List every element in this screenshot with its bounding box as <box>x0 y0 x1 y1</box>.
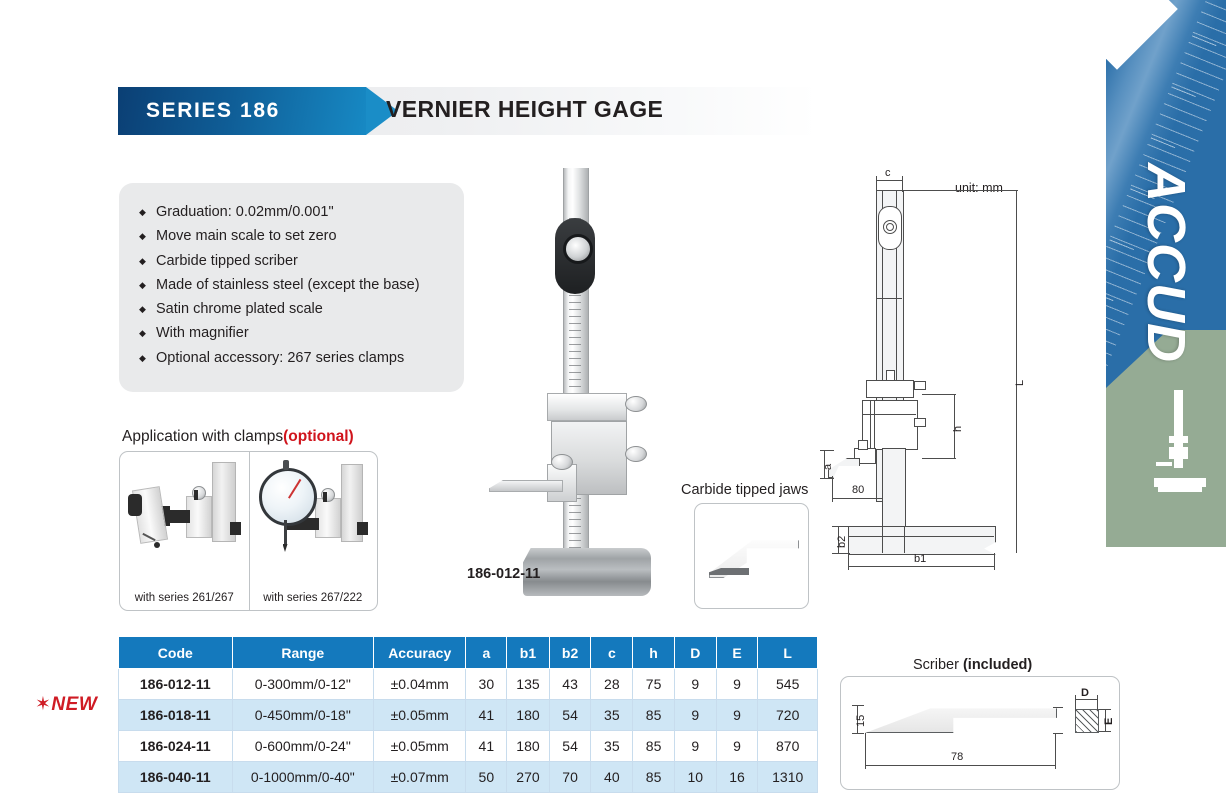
col-D: D <box>674 637 716 669</box>
feature-item: Made of stainless steel (except the base… <box>139 273 464 297</box>
application-panel-1: with series 261/267 <box>120 452 250 610</box>
product-photo <box>489 168 659 608</box>
application-images: with series 261/267 with series 267/222 <box>119 451 378 611</box>
cell-b2: 70 <box>549 762 591 793</box>
feature-item: With magnifier <box>139 321 464 345</box>
cell-a: 30 <box>466 669 507 700</box>
cell-D: 9 <box>674 731 716 762</box>
upper-carriage <box>547 393 627 421</box>
scriber-title: Scriber (included) <box>913 657 1032 673</box>
base-detail <box>848 536 994 537</box>
dim-E-ext <box>1099 731 1111 732</box>
cell-b1: 180 <box>507 731 549 762</box>
application-caption: with series 261/267 <box>120 592 249 604</box>
col-a: a <box>466 637 507 669</box>
cell-b2: 43 <box>549 669 591 700</box>
dim-label-15: 15 <box>855 715 867 727</box>
cell-E: 16 <box>716 762 758 793</box>
cell-L: 1310 <box>758 762 818 793</box>
feature-item: Move main scale to set zero <box>139 224 464 248</box>
dial-indicator-icon <box>259 468 317 526</box>
carbide-jaws-title: Carbide tipped jaws <box>681 482 808 498</box>
application-title: Application with clamps(optional) <box>122 428 354 446</box>
cell-accuracy: ±0.07mm <box>374 762 466 793</box>
application-title-main: Application with clamps <box>122 428 283 445</box>
cell-D: 9 <box>674 669 716 700</box>
dim-label-b1: b1 <box>914 553 926 565</box>
cell-c: 28 <box>591 669 633 700</box>
base-detail <box>904 526 905 553</box>
feature-item: Optional accessory: 267 series clamps <box>139 346 464 370</box>
carriage-detail <box>862 414 916 415</box>
page-title: VERNIER HEIGHT GAGE <box>386 96 663 123</box>
product-base <box>523 548 651 596</box>
cell-c: 35 <box>591 731 633 762</box>
dim-b2-ext <box>832 526 850 527</box>
cell-E: 9 <box>716 731 758 762</box>
cell-range: 0-1000mm/0-40" <box>232 762 373 793</box>
scriber-blade <box>489 480 563 492</box>
table-row: 186-024-11 0-600mm/0-24" ±0.05mm 41 180 … <box>119 731 818 762</box>
brand-sidebar: ACCUD <box>1106 0 1226 547</box>
scriber-profile <box>865 705 1057 733</box>
clamp-photo-267-222 <box>249 460 378 572</box>
section-leader <box>1053 707 1063 708</box>
dim-h-ext <box>922 458 956 459</box>
cell-D: 10 <box>674 762 716 793</box>
drawing-knob <box>914 381 926 390</box>
drawing-knob <box>914 418 926 427</box>
dim-label-h: h <box>952 426 964 432</box>
magnifier-lens-icon <box>563 234 593 264</box>
dim-b1-ext <box>848 553 849 570</box>
cell-code: 186-018-11 <box>119 700 233 731</box>
cell-b1: 180 <box>507 700 549 731</box>
application-panel-2: with series 267/222 <box>249 452 378 610</box>
cell-range: 0-300mm/0-12" <box>232 669 373 700</box>
cell-b2: 54 <box>549 731 591 762</box>
features-panel: Graduation: 0.02mm/0.001" Move main scal… <box>119 183 464 392</box>
scriber-title-main: Scriber <box>913 657 963 673</box>
cell-a: 41 <box>466 700 507 731</box>
cell-h: 85 <box>633 762 675 793</box>
cell-range: 0-600mm/0-24" <box>232 731 373 762</box>
product-code-label: 186-012-11 <box>467 566 540 582</box>
dim-label-b2: b2 <box>836 536 848 548</box>
dim-L-ext-top <box>902 190 1018 191</box>
new-badge: ✶NEW <box>35 693 97 716</box>
dim-label-E: E <box>1103 718 1115 725</box>
dim-D-line <box>1075 699 1097 700</box>
dim-D-ext <box>1075 695 1076 711</box>
col-c: c <box>591 637 633 669</box>
col-b2: b2 <box>549 637 591 669</box>
cell-code: 186-012-11 <box>119 669 233 700</box>
drawing-base <box>848 526 996 555</box>
dim-label-80: 80 <box>852 484 864 496</box>
features-list: Graduation: 0.02mm/0.001" Move main scal… <box>119 183 464 370</box>
dim-80-ext <box>832 476 833 502</box>
dim-label-D: D <box>1081 687 1089 699</box>
cell-b1: 135 <box>507 669 549 700</box>
dim-b1-line <box>848 566 994 567</box>
cell-range: 0-450mm/0-18" <box>232 700 373 731</box>
cell-L: 870 <box>758 731 818 762</box>
drawing-knob <box>886 370 895 381</box>
cell-code: 186-024-11 <box>119 731 233 762</box>
feature-item: Carbide tipped scriber <box>139 249 464 273</box>
dim-label-a: a <box>822 464 834 470</box>
cell-h: 75 <box>633 669 675 700</box>
scriber-cross-section <box>1075 709 1099 733</box>
table-row: 186-040-11 0-1000mm/0-40" ±0.07mm 50 270… <box>119 762 818 793</box>
dim-c-line <box>876 180 902 181</box>
drawing-upper-carriage <box>866 380 914 398</box>
dim-label-78: 78 <box>951 751 963 763</box>
scriber-clamp-knob <box>551 454 573 470</box>
technical-drawing: c L h a 80 b2 b1 <box>818 168 1098 598</box>
cell-b1: 270 <box>507 762 549 793</box>
dim-78-ext <box>865 733 866 769</box>
dim-78-line <box>865 765 1055 766</box>
cell-L: 720 <box>758 700 818 731</box>
scriber-title-included: (included) <box>963 657 1032 673</box>
dim-c-ext <box>876 176 877 192</box>
specifications-table: Code Range Accuracy a b1 b2 c h D E L 18… <box>118 636 818 793</box>
cell-accuracy: ±0.05mm <box>374 731 466 762</box>
cell-code: 186-040-11 <box>119 762 233 793</box>
dim-b1-ext <box>994 553 995 570</box>
carriage-detail <box>870 400 871 448</box>
series-tag: SERIES 186 <box>118 87 366 135</box>
section-leader <box>1053 733 1063 734</box>
col-range: Range <box>232 637 373 669</box>
base-detail <box>882 526 883 553</box>
dim-label-c: c <box>885 167 891 179</box>
col-code: Code <box>119 637 233 669</box>
carriage-detail <box>874 400 875 448</box>
cell-a: 50 <box>466 762 507 793</box>
clamp-screw-knob <box>625 446 647 462</box>
table-row: 186-012-11 0-300mm/0-12" ±0.04mm 30 135 … <box>119 669 818 700</box>
fine-adjust-knob <box>625 396 647 412</box>
drawing-scriber-knob <box>858 440 868 450</box>
col-h: h <box>633 637 675 669</box>
dim-label-L: L <box>1014 380 1026 386</box>
dim-78-ext <box>1055 733 1056 769</box>
cell-c: 40 <box>591 762 633 793</box>
table-header-row: Code Range Accuracy a b1 b2 c h D E L <box>119 637 818 669</box>
cell-accuracy: ±0.05mm <box>374 700 466 731</box>
cell-a: 41 <box>466 731 507 762</box>
col-accuracy: Accuracy <box>374 637 466 669</box>
dim-D-ext <box>1097 695 1098 711</box>
height-gage-silhouette-icon <box>1152 390 1208 510</box>
cell-h: 85 <box>633 731 675 762</box>
table-row: 186-018-11 0-450mm/0-18" ±0.05mm 41 180 … <box>119 700 818 731</box>
col-L: L <box>758 637 818 669</box>
cell-D: 9 <box>674 700 716 731</box>
cell-accuracy: ±0.04mm <box>374 669 466 700</box>
dim-L-line <box>1016 190 1017 553</box>
col-E: E <box>716 637 758 669</box>
application-caption: with series 267/222 <box>249 592 378 604</box>
cell-E: 9 <box>716 669 758 700</box>
drawing-magnifier-lens-icon <box>886 223 894 231</box>
feature-item: Graduation: 0.02mm/0.001" <box>139 200 464 224</box>
cell-h: 85 <box>633 700 675 731</box>
brand-wordmark: ACCUD <box>1139 163 1193 295</box>
cell-E: 9 <box>716 700 758 731</box>
cell-L: 545 <box>758 669 818 700</box>
brand-wordmark-wrap: ACCUD <box>1106 140 1226 400</box>
drawing-column <box>882 448 906 533</box>
clamp-photo-261-267 <box>120 460 249 572</box>
cell-c: 35 <box>591 700 633 731</box>
cell-b2: 54 <box>549 700 591 731</box>
dim-h-ext <box>922 394 956 395</box>
col-b1: b1 <box>507 637 549 669</box>
series-label: SERIES 186 <box>146 99 280 123</box>
feature-item: Satin chrome plated scale <box>139 297 464 321</box>
scriber-drawing: 15 78 D E <box>840 676 1120 790</box>
dim-E-ext <box>1099 709 1111 710</box>
dim-15-ext <box>852 705 864 706</box>
carbide-jaws-image <box>694 503 809 609</box>
dim-15-ext <box>852 733 864 734</box>
dim-a-ext <box>820 450 834 451</box>
beam-break-line <box>876 298 902 299</box>
application-title-optional: (optional) <box>283 428 354 445</box>
